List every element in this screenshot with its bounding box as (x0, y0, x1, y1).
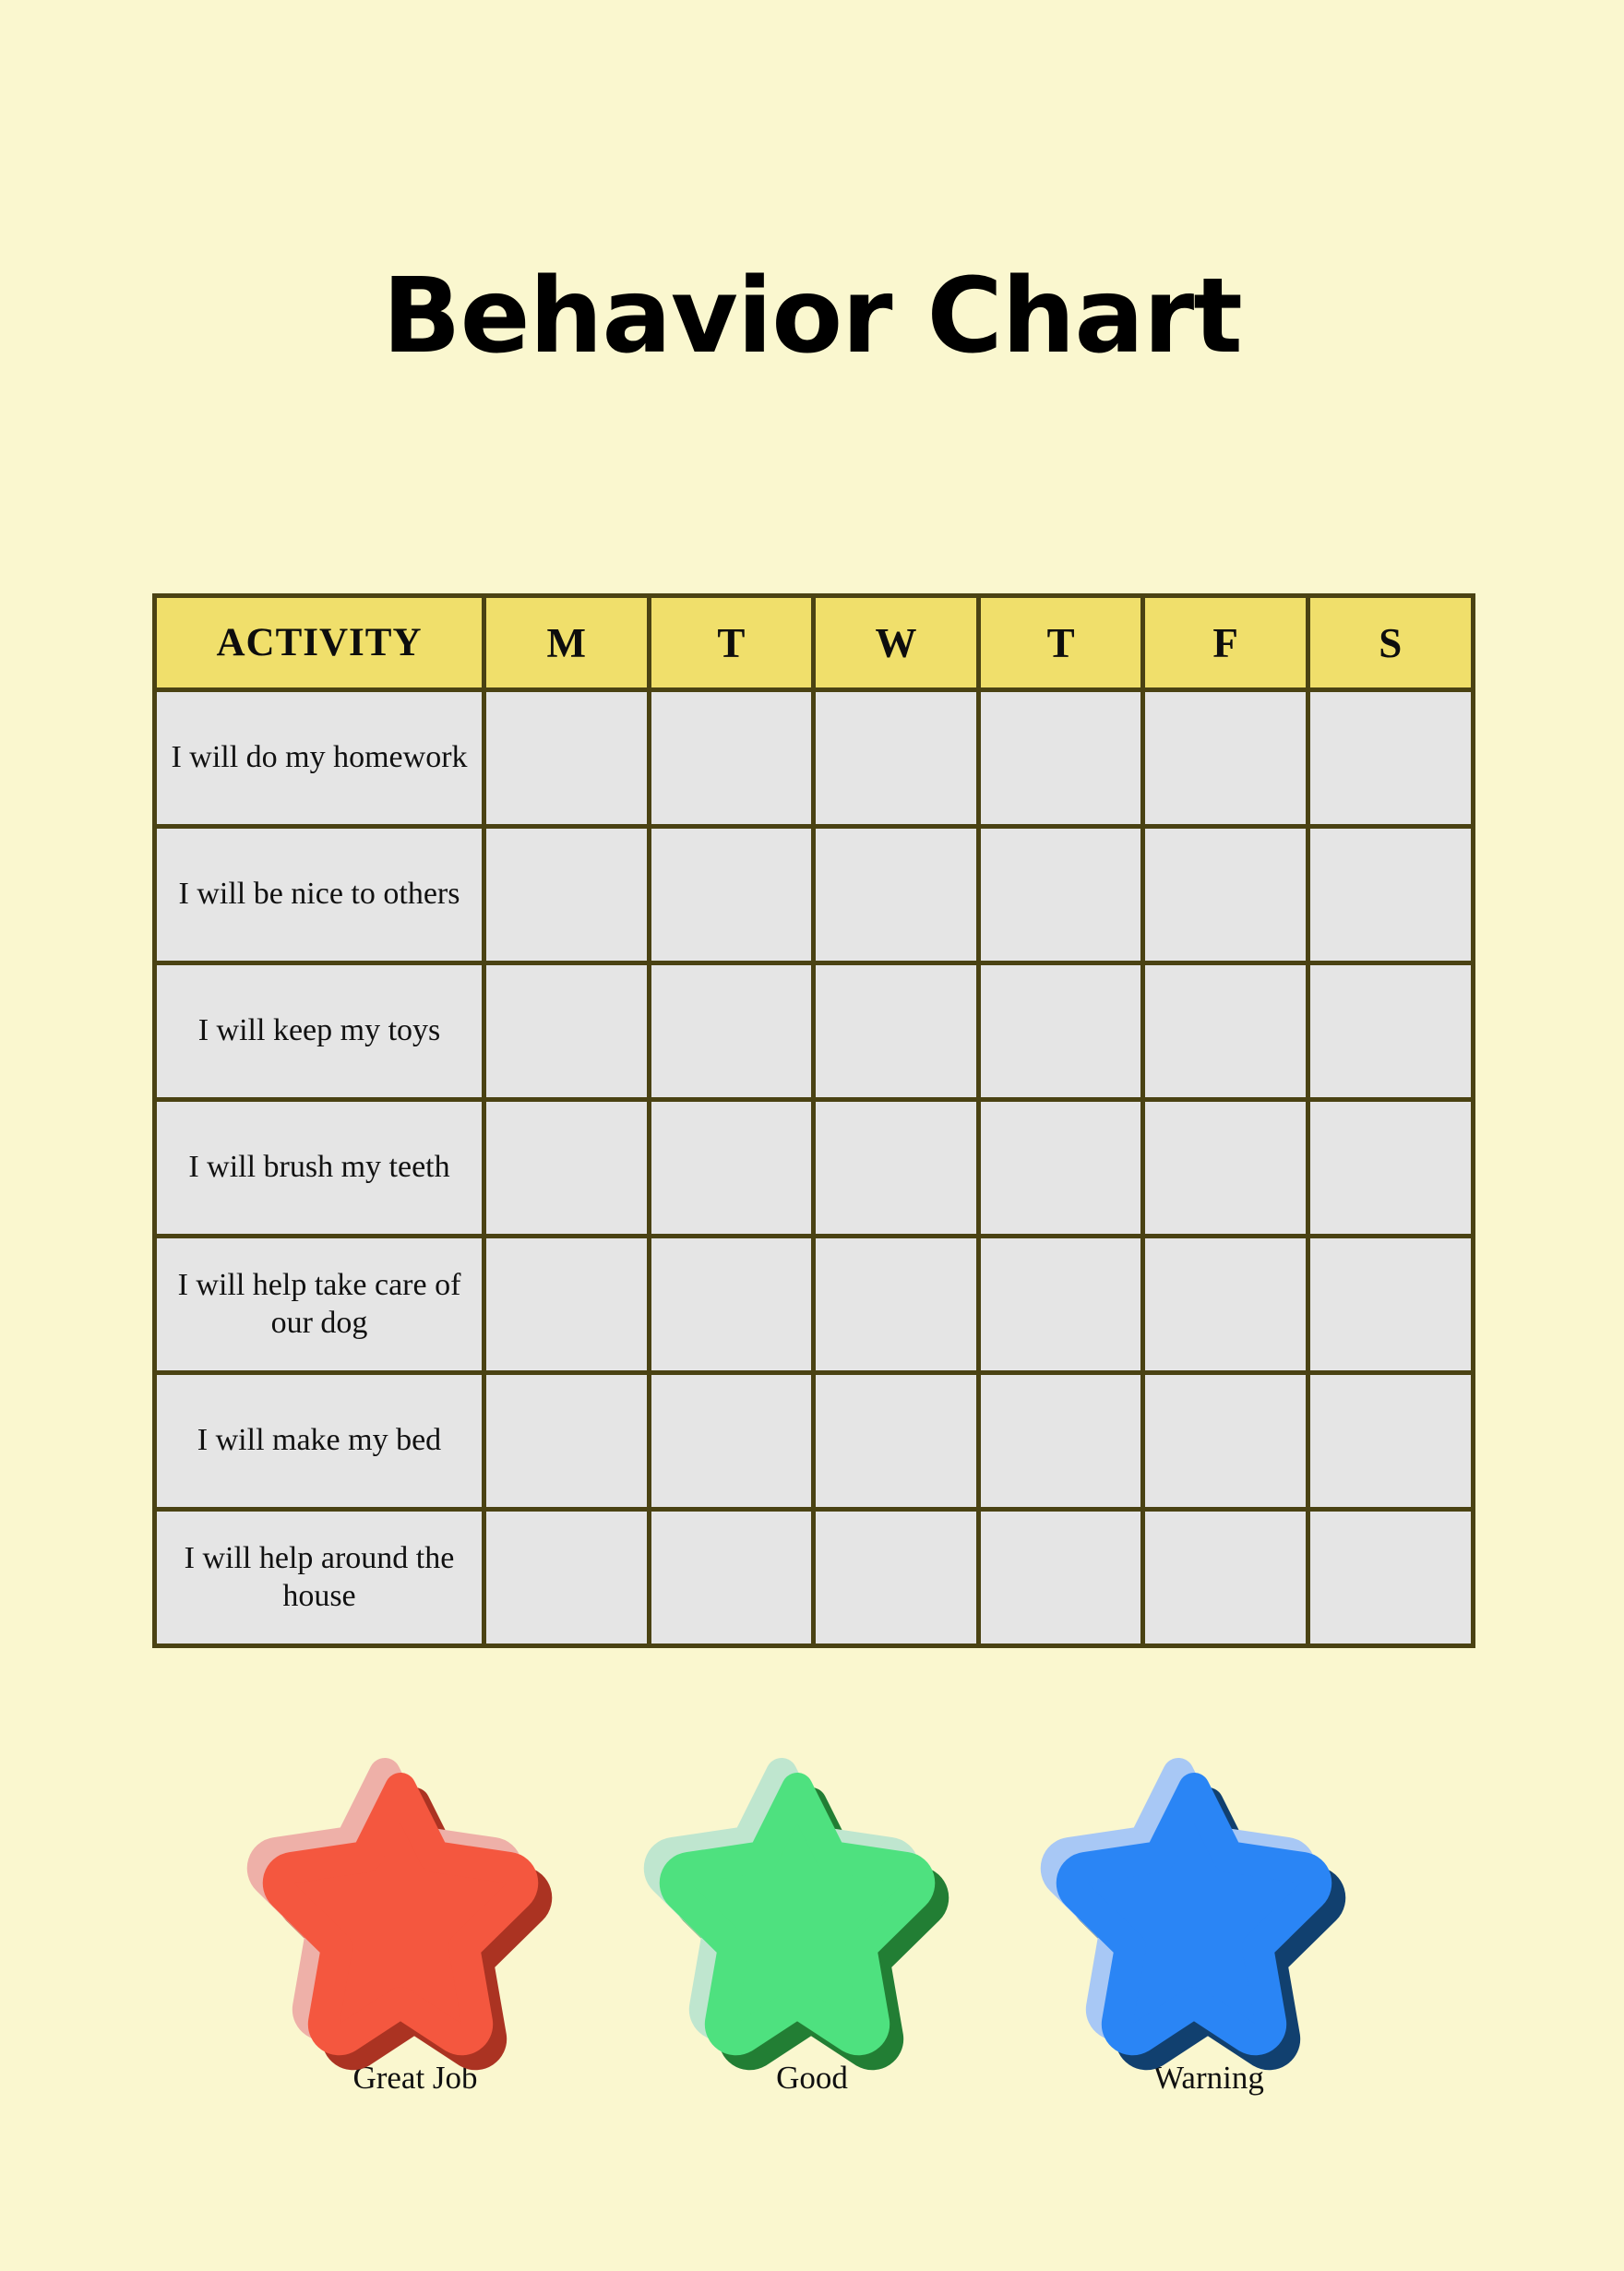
legend-item-good[interactable]: Good (678, 1781, 946, 2097)
activity-label: I will do my homework (155, 690, 484, 827)
checkbox-cell-monday[interactable] (484, 963, 650, 1100)
checkbox-cell-wednesday[interactable] (814, 827, 979, 963)
checkbox-cell-thursday[interactable] (978, 1100, 1143, 1237)
activity-label: I will be nice to others (155, 827, 484, 963)
checkbox-cell-friday[interactable] (1143, 1100, 1308, 1237)
checkbox-cell-thursday[interactable] (978, 827, 1143, 963)
star-main-layer (675, 1788, 919, 2039)
checkbox-cell-saturday[interactable] (1308, 1237, 1473, 1373)
star-main-layer (1072, 1788, 1316, 2039)
activity-label: I will keep my toys (155, 963, 484, 1100)
checkbox-cell-saturday[interactable] (1308, 1100, 1473, 1237)
checkbox-cell-friday[interactable] (1143, 827, 1308, 963)
page-title: Behavior Chart (0, 265, 1624, 368)
checkbox-cell-wednesday[interactable] (814, 1373, 979, 1510)
activity-label: I will help take care of our dog (155, 1237, 484, 1373)
checkbox-cell-thursday[interactable] (978, 963, 1143, 1100)
legend-item-great-job[interactable]: Great Job (281, 1781, 549, 2097)
checkbox-cell-friday[interactable] (1143, 1237, 1308, 1373)
star-icon (1075, 1781, 1343, 2039)
checkbox-cell-saturday[interactable] (1308, 690, 1473, 827)
checkbox-cell-thursday[interactable] (978, 690, 1143, 827)
behavior-chart-table-container: ACTIVITY M T W T F S I will do my homewo… (152, 593, 1471, 1648)
table-row: I will help take care of our dog (155, 1237, 1474, 1373)
star-icon-graphic (678, 1781, 946, 2039)
checkbox-cell-wednesday[interactable] (814, 1100, 979, 1237)
column-header-saturday: S (1308, 596, 1473, 690)
table-row: I will help around the house (155, 1510, 1474, 1646)
checkbox-cell-monday[interactable] (484, 1373, 650, 1510)
checkbox-cell-monday[interactable] (484, 1237, 650, 1373)
checkbox-cell-tuesday[interactable] (649, 1510, 814, 1646)
legend-label: Good (776, 2060, 848, 2097)
column-header-wednesday: W (814, 596, 979, 690)
table-header: ACTIVITY M T W T F S (155, 596, 1474, 690)
rating-legend: Great Job Good (0, 1781, 1624, 2097)
column-header-thursday: T (978, 596, 1143, 690)
table-row: I will brush my teeth (155, 1100, 1474, 1237)
activity-label: I will make my bed (155, 1373, 484, 1510)
star-icon-graphic (281, 1781, 549, 2039)
checkbox-cell-wednesday[interactable] (814, 963, 979, 1100)
legend-label: Warning (1153, 2060, 1264, 2097)
star-icon (678, 1781, 946, 2039)
star-icon-graphic (1075, 1781, 1343, 2039)
star-icon (281, 1781, 549, 2039)
checkbox-cell-tuesday[interactable] (649, 963, 814, 1100)
checkbox-cell-tuesday[interactable] (649, 1100, 814, 1237)
checkbox-cell-wednesday[interactable] (814, 1237, 979, 1373)
checkbox-cell-wednesday[interactable] (814, 1510, 979, 1646)
checkbox-cell-tuesday[interactable] (649, 827, 814, 963)
checkbox-cell-friday[interactable] (1143, 963, 1308, 1100)
legend-item-warning[interactable]: Warning (1075, 1781, 1343, 2097)
activity-label: I will brush my teeth (155, 1100, 484, 1237)
checkbox-cell-thursday[interactable] (978, 1373, 1143, 1510)
checkbox-cell-friday[interactable] (1143, 1373, 1308, 1510)
checkbox-cell-saturday[interactable] (1308, 827, 1473, 963)
activity-label: I will help around the house (155, 1510, 484, 1646)
table-row: I will keep my toys (155, 963, 1474, 1100)
column-header-friday: F (1143, 596, 1308, 690)
star-main-layer (279, 1788, 522, 2039)
table-header-row: ACTIVITY M T W T F S (155, 596, 1474, 690)
table-body: I will do my homework I will be nice to … (155, 690, 1474, 1646)
checkbox-cell-tuesday[interactable] (649, 1373, 814, 1510)
checkbox-cell-monday[interactable] (484, 827, 650, 963)
checkbox-cell-monday[interactable] (484, 1510, 650, 1646)
checkbox-cell-friday[interactable] (1143, 1510, 1308, 1646)
checkbox-cell-friday[interactable] (1143, 690, 1308, 827)
column-header-tuesday: T (649, 596, 814, 690)
checkbox-cell-saturday[interactable] (1308, 963, 1473, 1100)
checkbox-cell-thursday[interactable] (978, 1510, 1143, 1646)
checkbox-cell-monday[interactable] (484, 1100, 650, 1237)
table-row: I will do my homework (155, 690, 1474, 827)
table-row: I will be nice to others (155, 827, 1474, 963)
legend-label: Great Job (352, 2060, 477, 2097)
column-header-monday: M (484, 596, 650, 690)
checkbox-cell-thursday[interactable] (978, 1237, 1143, 1373)
behavior-chart-table: ACTIVITY M T W T F S I will do my homewo… (152, 593, 1475, 1648)
column-header-activity: ACTIVITY (155, 596, 484, 690)
checkbox-cell-tuesday[interactable] (649, 1237, 814, 1373)
checkbox-cell-tuesday[interactable] (649, 690, 814, 827)
checkbox-cell-monday[interactable] (484, 690, 650, 827)
checkbox-cell-wednesday[interactable] (814, 690, 979, 827)
table-row: I will make my bed (155, 1373, 1474, 1510)
checkbox-cell-saturday[interactable] (1308, 1373, 1473, 1510)
checkbox-cell-saturday[interactable] (1308, 1510, 1473, 1646)
